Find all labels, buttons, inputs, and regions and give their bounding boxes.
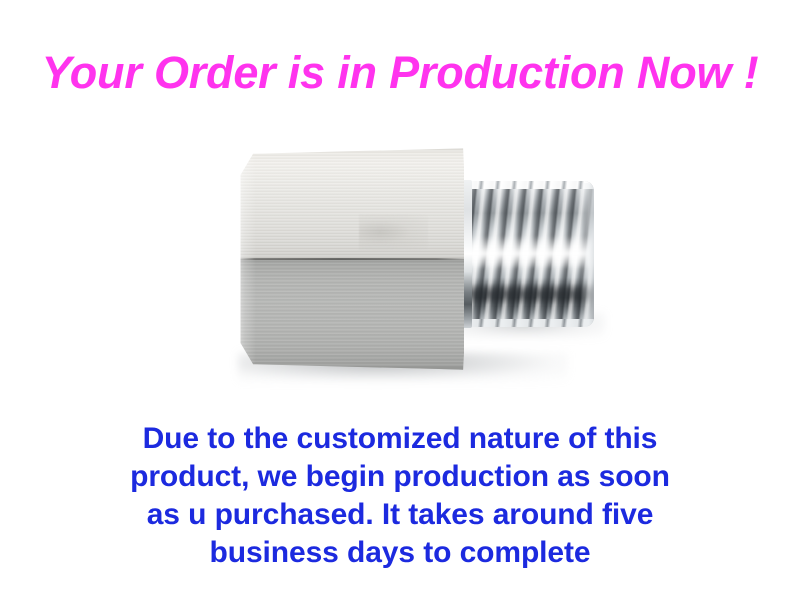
thread-specular-highlight [455,236,594,268]
hex-facet-edge [236,258,464,260]
hex-left-chamfer-highlight [236,147,256,371]
notice-line-2: product, we begin production as soon [0,458,800,496]
thread-cylinder [455,181,594,327]
notice-line-1: Due to the customized nature of this [0,420,800,458]
hex-engraving-marks [359,214,427,250]
promotional-banner: Your Order is in Production Now ! [0,0,800,600]
shoulder-step [458,180,472,328]
hex-top-facet [236,147,464,259]
thread-contact-shadow [455,312,605,338]
hex-bottom-facet [236,259,464,371]
thread-end-cap [580,183,594,325]
thread-crest-top-edge [457,181,594,189]
notice-line-4: business days to complete [0,534,800,572]
product-contact-shadow [238,352,568,382]
thread-crest-bottom-edge [457,319,594,327]
hex-body [236,147,464,371]
notice-line-3: as u purchased. It takes around five [0,496,800,534]
thread-shadow-band [455,283,594,305]
threaded-nose [455,181,594,327]
thread-grooves [455,181,594,327]
hex-bottom-rim [236,367,464,371]
headline-text: Your Order is in Production Now ! [0,49,800,98]
production-notice: Due to the customized nature of this pro… [0,420,800,572]
